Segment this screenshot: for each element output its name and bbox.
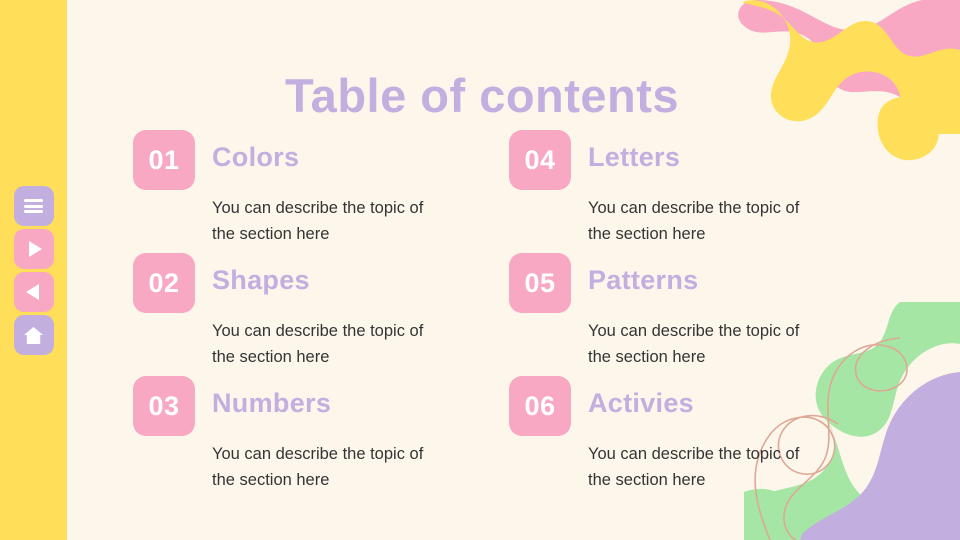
slide-content: Table of contents 01 Colors You can desc… bbox=[67, 0, 960, 540]
play-triangle-right-icon bbox=[29, 241, 42, 257]
toc-head: 03 Numbers bbox=[133, 376, 453, 436]
toc-item-title: Letters bbox=[588, 130, 680, 173]
toc-number-badge: 04 bbox=[509, 130, 571, 190]
hamburger-icon bbox=[24, 199, 43, 213]
slide-canvas: Table of contents 01 Colors You can desc… bbox=[0, 0, 960, 540]
toc-number-badge: 01 bbox=[133, 130, 195, 190]
toc-item-05[interactable]: 05 Patterns You can describe the topic o… bbox=[509, 253, 829, 370]
toc-item-description: You can describe the topic of the sectio… bbox=[588, 441, 823, 493]
toc-item-description: You can describe the topic of the sectio… bbox=[212, 318, 447, 370]
toc-item-06[interactable]: 06 Activies You can describe the topic o… bbox=[509, 376, 829, 493]
page-title: Table of contents bbox=[67, 68, 897, 123]
toc-head: 06 Activies bbox=[509, 376, 829, 436]
toc-item-03[interactable]: 03 Numbers You can describe the topic of… bbox=[133, 376, 453, 493]
toc-item-description: You can describe the topic of the sectio… bbox=[588, 318, 823, 370]
toc-head: 04 Letters bbox=[509, 130, 829, 190]
sidebar-item-previous[interactable] bbox=[14, 272, 54, 312]
toc-number-badge: 02 bbox=[133, 253, 195, 313]
toc-item-title: Colors bbox=[212, 130, 299, 173]
toc-number-badge: 03 bbox=[133, 376, 195, 436]
sidebar bbox=[0, 0, 67, 540]
sidebar-item-next[interactable] bbox=[14, 229, 54, 269]
toc-item-description: You can describe the topic of the sectio… bbox=[212, 441, 447, 493]
toc-item-title: Shapes bbox=[212, 253, 310, 296]
sidebar-item-menu[interactable] bbox=[14, 186, 54, 226]
toc-item-02[interactable]: 02 Shapes You can describe the topic of … bbox=[133, 253, 453, 370]
toc-item-title: Numbers bbox=[212, 376, 331, 419]
home-icon bbox=[23, 326, 44, 345]
toc-item-description: You can describe the topic of the sectio… bbox=[588, 195, 823, 247]
toc-number-badge: 05 bbox=[509, 253, 571, 313]
sidebar-nav bbox=[0, 186, 67, 355]
toc-item-04[interactable]: 04 Letters You can describe the topic of… bbox=[509, 130, 829, 247]
toc-head: 02 Shapes bbox=[133, 253, 453, 313]
toc-item-01[interactable]: 01 Colors You can describe the topic of … bbox=[133, 130, 453, 247]
toc-item-title: Activies bbox=[588, 376, 694, 419]
sidebar-item-home[interactable] bbox=[14, 315, 54, 355]
toc-head: 05 Patterns bbox=[509, 253, 829, 313]
toc-item-title: Patterns bbox=[588, 253, 698, 296]
play-triangle-left-icon bbox=[26, 284, 39, 300]
toc-head: 01 Colors bbox=[133, 130, 453, 190]
toc-number-badge: 06 bbox=[509, 376, 571, 436]
toc-item-description: You can describe the topic of the sectio… bbox=[212, 195, 447, 247]
